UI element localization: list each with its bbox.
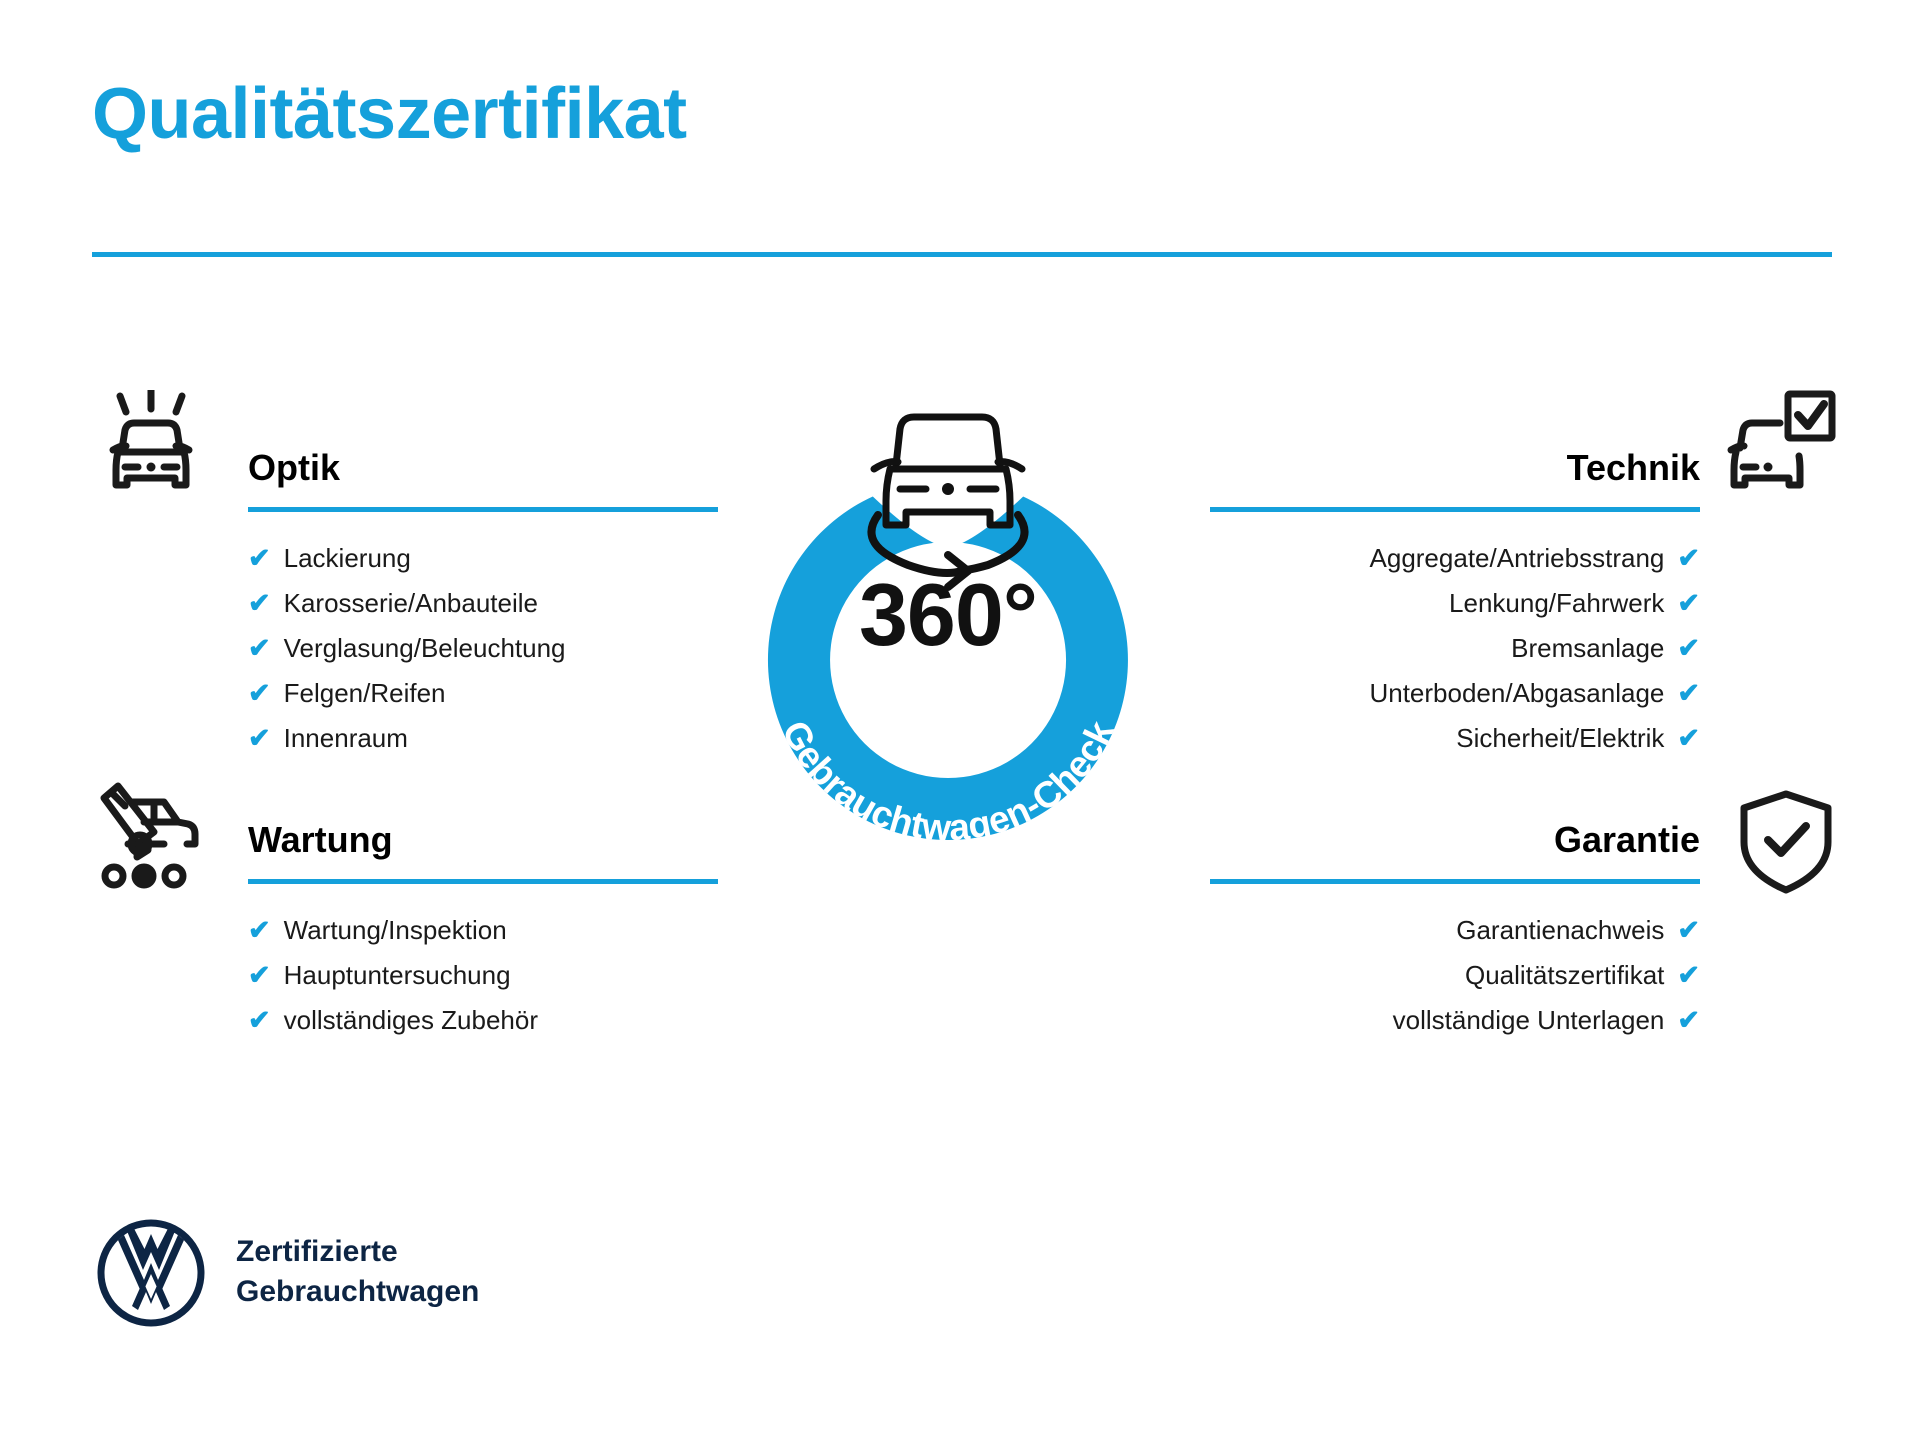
check-icon: ✔ [1677,725,1700,752]
section-title: Optik [248,450,718,486]
shield-check-icon [1738,790,1834,894]
list-item-label: Verglasung/Beleuchtung [284,626,566,671]
brand-line-1: Zertifizierte [236,1232,398,1272]
check-icon: ✔ [1677,680,1700,707]
check-icon: ✔ [248,962,271,989]
check-icon: ✔ [248,590,271,617]
list-item-label: Hauptuntersuchung [284,953,511,998]
section-title: Garantie [1210,822,1700,858]
list-item: Lenkung/Fahrwerk✔ [1210,581,1700,626]
section-optik: Optik ✔Lackierung ✔Karosserie/Anbauteile… [248,450,718,761]
section-garantie: Garantie Garantienachweis✔ Qualitätszert… [1210,822,1700,1043]
list-item-label: Karosserie/Anbauteile [284,581,538,626]
checklist-technik: Aggregate/Antriebsstrang✔ Lenkung/Fahrwe… [1210,536,1700,761]
list-item: ✔Lackierung [248,536,718,581]
list-item-label: vollständige Unterlagen [1393,998,1665,1043]
list-item: Garantienachweis✔ [1210,908,1700,953]
check-icon: ✔ [1677,1007,1700,1034]
checklist-wartung: ✔Wartung/Inspektion ✔Hauptuntersuchung ✔… [248,908,718,1043]
list-item: ✔Felgen/Reifen [248,671,718,716]
section-divider [248,879,718,884]
list-item-label: Lenkung/Fahrwerk [1449,581,1664,626]
section-title: Wartung [248,822,718,858]
list-item-label: Innenraum [284,716,408,761]
list-item-label: Sicherheit/Elektrik [1456,716,1664,761]
list-item: vollständige Unterlagen✔ [1210,998,1700,1043]
list-item: Qualitätszertifikat✔ [1210,953,1700,998]
list-item-label: Lackierung [284,536,411,581]
list-item-label: Wartung/Inspektion [284,908,507,953]
list-item: ✔Wartung/Inspektion [248,908,718,953]
check-icon: ✔ [248,725,271,752]
list-item-label: vollständiges Zubehör [284,998,538,1043]
check-icon: ✔ [248,545,271,572]
check-icon: ✔ [1677,917,1700,944]
checklist-garantie: Garantienachweis✔ Qualitätszertifikat✔ v… [1210,908,1700,1043]
check-icon: ✔ [1677,590,1700,617]
section-wartung: Wartung ✔Wartung/Inspektion ✔Hauptunters… [248,822,718,1043]
list-item: ✔Innenraum [248,716,718,761]
check-icon: ✔ [1677,545,1700,572]
check-icon: ✔ [248,917,271,944]
list-item: Aggregate/Antriebsstrang✔ [1210,536,1700,581]
car-checklist-icon [1718,390,1836,502]
check-icon: ✔ [1677,962,1700,989]
pencil-car-service-icon [92,780,210,890]
brand-lockup: Zertifizierte Gebrauchtwagen [96,1218,616,1338]
certificate-page: Qualitätszertifikat [0,0,1920,1440]
section-divider [1210,879,1700,884]
list-item-label: Unterboden/Abgasanlage [1369,671,1664,716]
checklist-optik: ✔Lackierung ✔Karosserie/Anbauteile ✔Verg… [248,536,718,761]
list-item-label: Felgen/Reifen [284,671,446,716]
section-header-technik: Technik [1210,450,1700,512]
title-divider [92,252,1832,257]
list-item: Sicherheit/Elektrik✔ [1210,716,1700,761]
section-header-optik: Optik [248,450,718,512]
list-item-label: Qualitätszertifikat [1465,953,1664,998]
check-icon: ✔ [248,680,271,707]
section-header-wartung: Wartung [248,822,718,884]
section-title: Technik [1210,450,1700,486]
list-item: ✔Hauptuntersuchung [248,953,718,998]
check-icon: ✔ [248,1007,271,1034]
list-item: Unterboden/Abgasanlage✔ [1210,671,1700,716]
vw-logo [96,1218,206,1328]
section-divider [248,507,718,512]
list-item: Bremsanlage✔ [1210,626,1700,671]
page-title: Qualitätszertifikat [92,78,687,150]
list-item-label: Aggregate/Antriebsstrang [1370,536,1665,581]
check-icon: ✔ [248,635,271,662]
section-divider [1210,507,1700,512]
list-item: ✔Verglasung/Beleuchtung [248,626,718,671]
section-technik: Technik Aggregate/Antriebsstrang✔ Lenkun… [1210,450,1700,761]
list-item: ✔vollständiges Zubehör [248,998,718,1043]
360-check-badge: Gebrauchtwagen-Check 360° [688,375,1208,875]
section-header-garantie: Garantie [1210,822,1700,884]
list-item: ✔Karosserie/Anbauteile [248,581,718,626]
check-icon: ✔ [1677,635,1700,662]
badge-number: 360° [688,571,1208,659]
brand-line-2: Gebrauchtwagen [236,1272,479,1312]
list-item-label: Bremsanlage [1511,626,1664,671]
list-item-label: Garantienachweis [1456,908,1664,953]
car-front-shine-icon [92,390,210,502]
